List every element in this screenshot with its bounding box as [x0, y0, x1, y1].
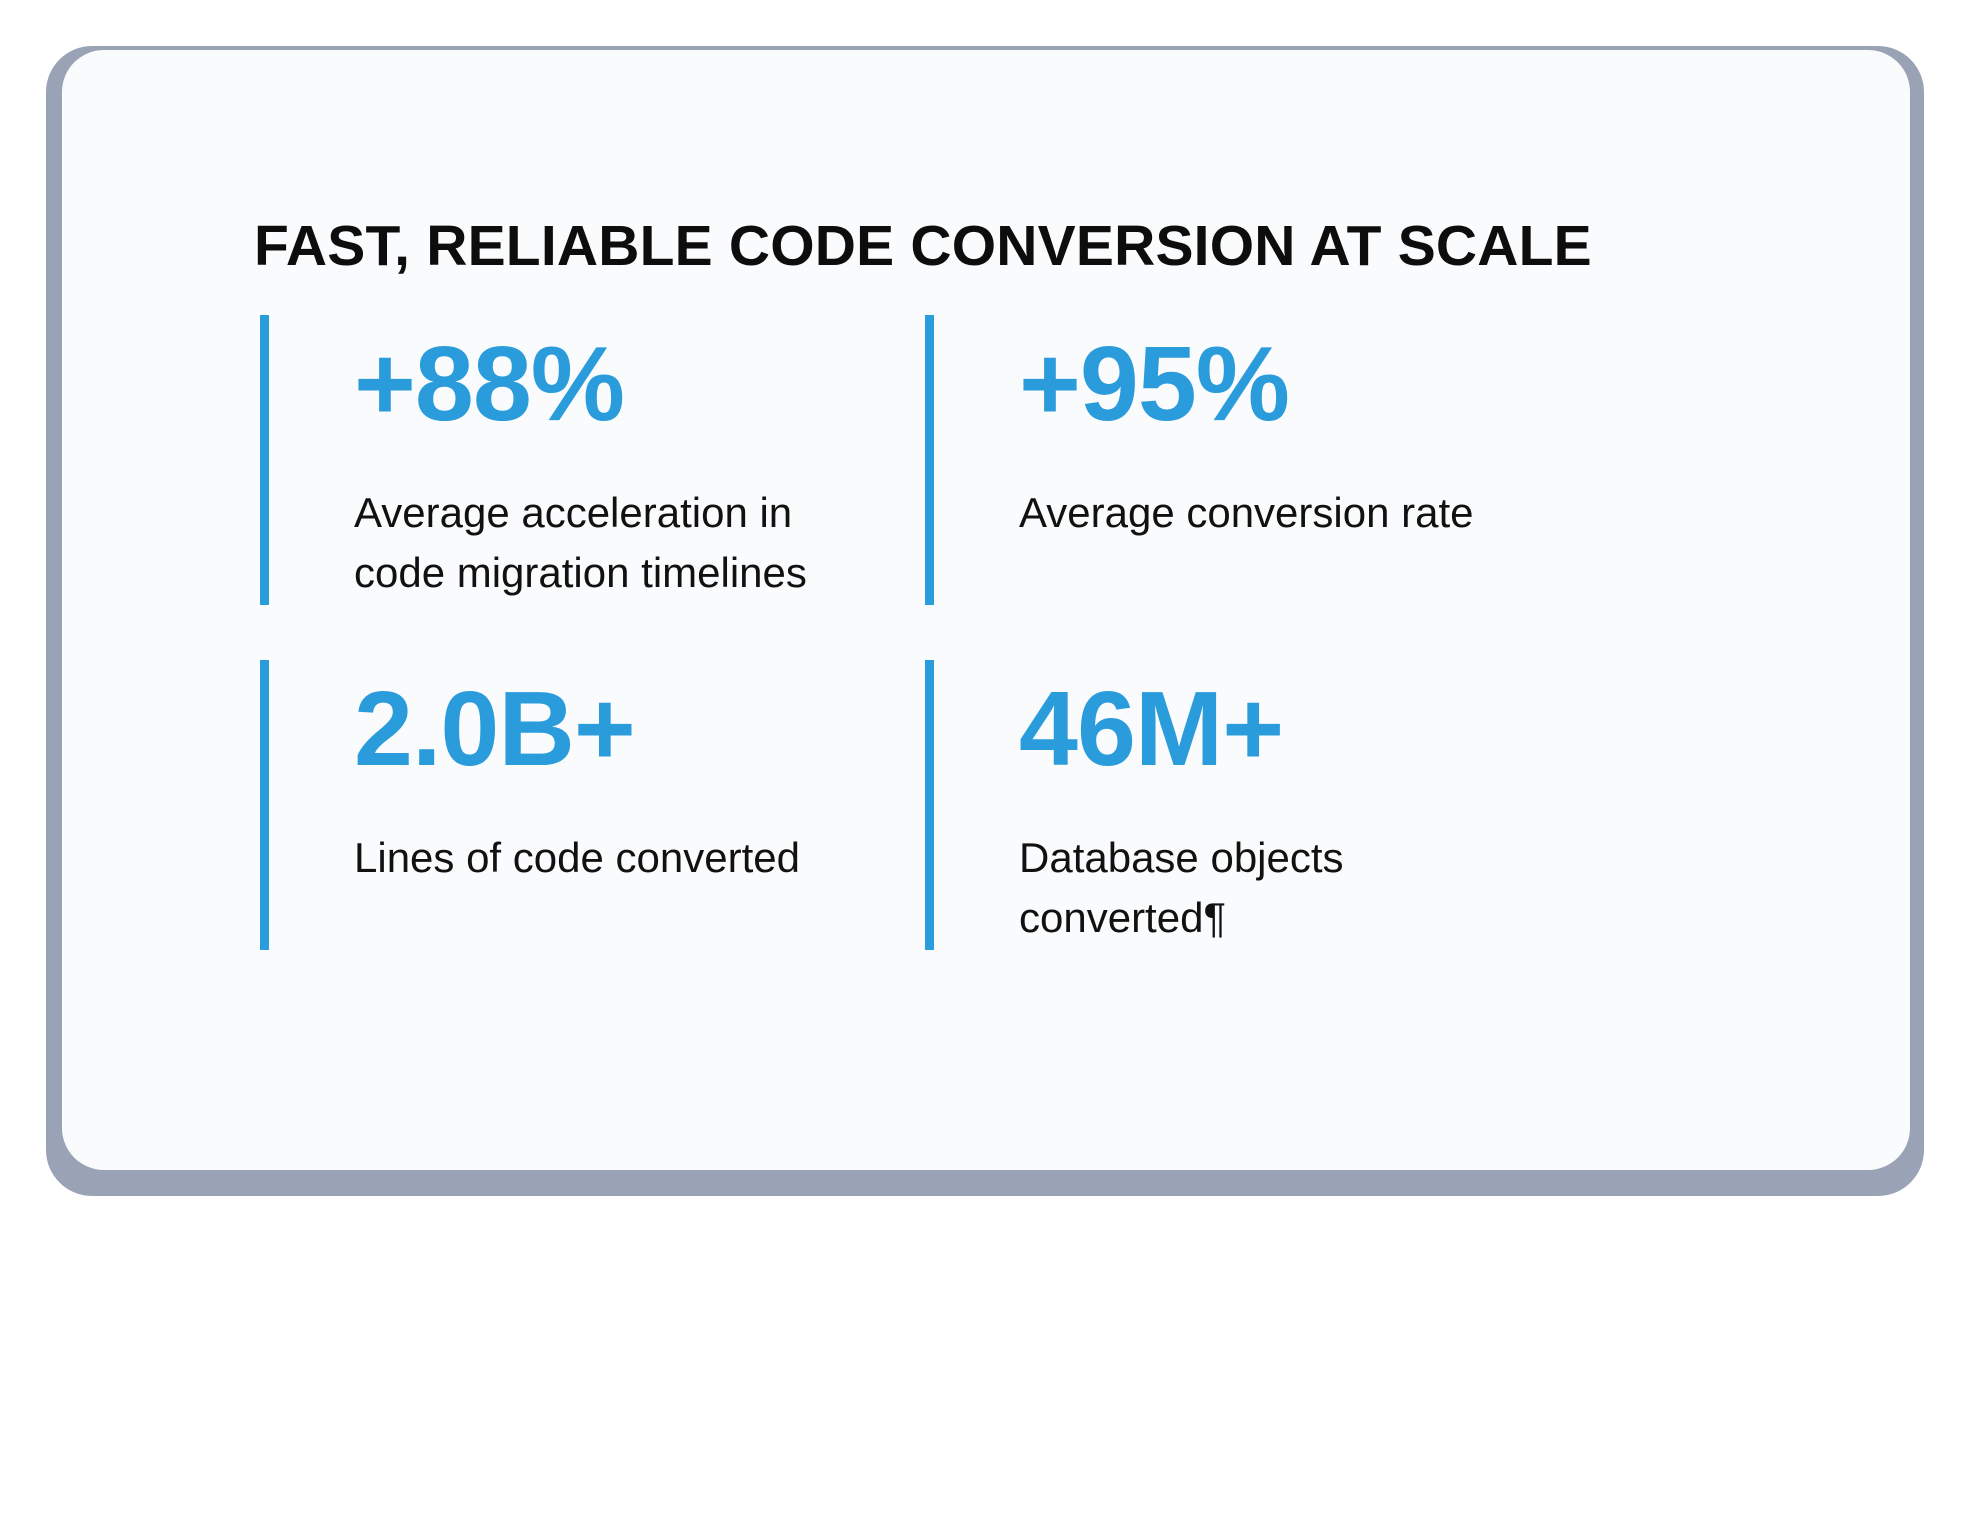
stat-label: Database objects converted¶ [1019, 782, 1539, 947]
accent-rule-icon [925, 315, 934, 605]
accent-rule-icon [260, 315, 269, 605]
page-title: FAST, RELIABLE CODE CONVERSION AT SCALE [254, 218, 1592, 275]
stat-card-stage: FAST, RELIABLE CODE CONVERSION AT SCALE … [0, 0, 1971, 1524]
stat-item-lines-of-code-converted: 2.0B+ Lines of code converted [254, 660, 919, 1005]
stat-label: Average conversion rate [1019, 437, 1539, 543]
stat-value: 46M+ [1019, 668, 1584, 782]
stat-item-code-migration-acceleration: +88% Average acceleration in code migrat… [254, 315, 919, 660]
stat-value: +95% [1019, 323, 1584, 437]
stat-value: +88% [354, 323, 919, 437]
stat-label-text: Average conversion rate [1019, 489, 1474, 536]
accent-rule-icon [925, 660, 934, 950]
stat-label: Average acceleration in code migration t… [354, 437, 874, 602]
stat-item-database-objects-converted: 46M+ Database objects converted¶ [919, 660, 1584, 1005]
accent-rule-icon [260, 660, 269, 950]
stats-card: FAST, RELIABLE CODE CONVERSION AT SCALE … [62, 50, 1910, 1170]
stat-label-text: Lines of code converted [354, 834, 800, 881]
footnote-marker: ¶ [1203, 894, 1226, 941]
stat-label-text: Average acceleration in code migration t… [354, 489, 807, 596]
stats-grid: +88% Average acceleration in code migrat… [254, 315, 1774, 1005]
stat-item-average-conversion-rate: +95% Average conversion rate [919, 315, 1584, 660]
stat-label-text: Database objects converted [1019, 834, 1344, 941]
stat-value: 2.0B+ [354, 668, 919, 782]
stat-label: Lines of code converted [354, 782, 874, 888]
